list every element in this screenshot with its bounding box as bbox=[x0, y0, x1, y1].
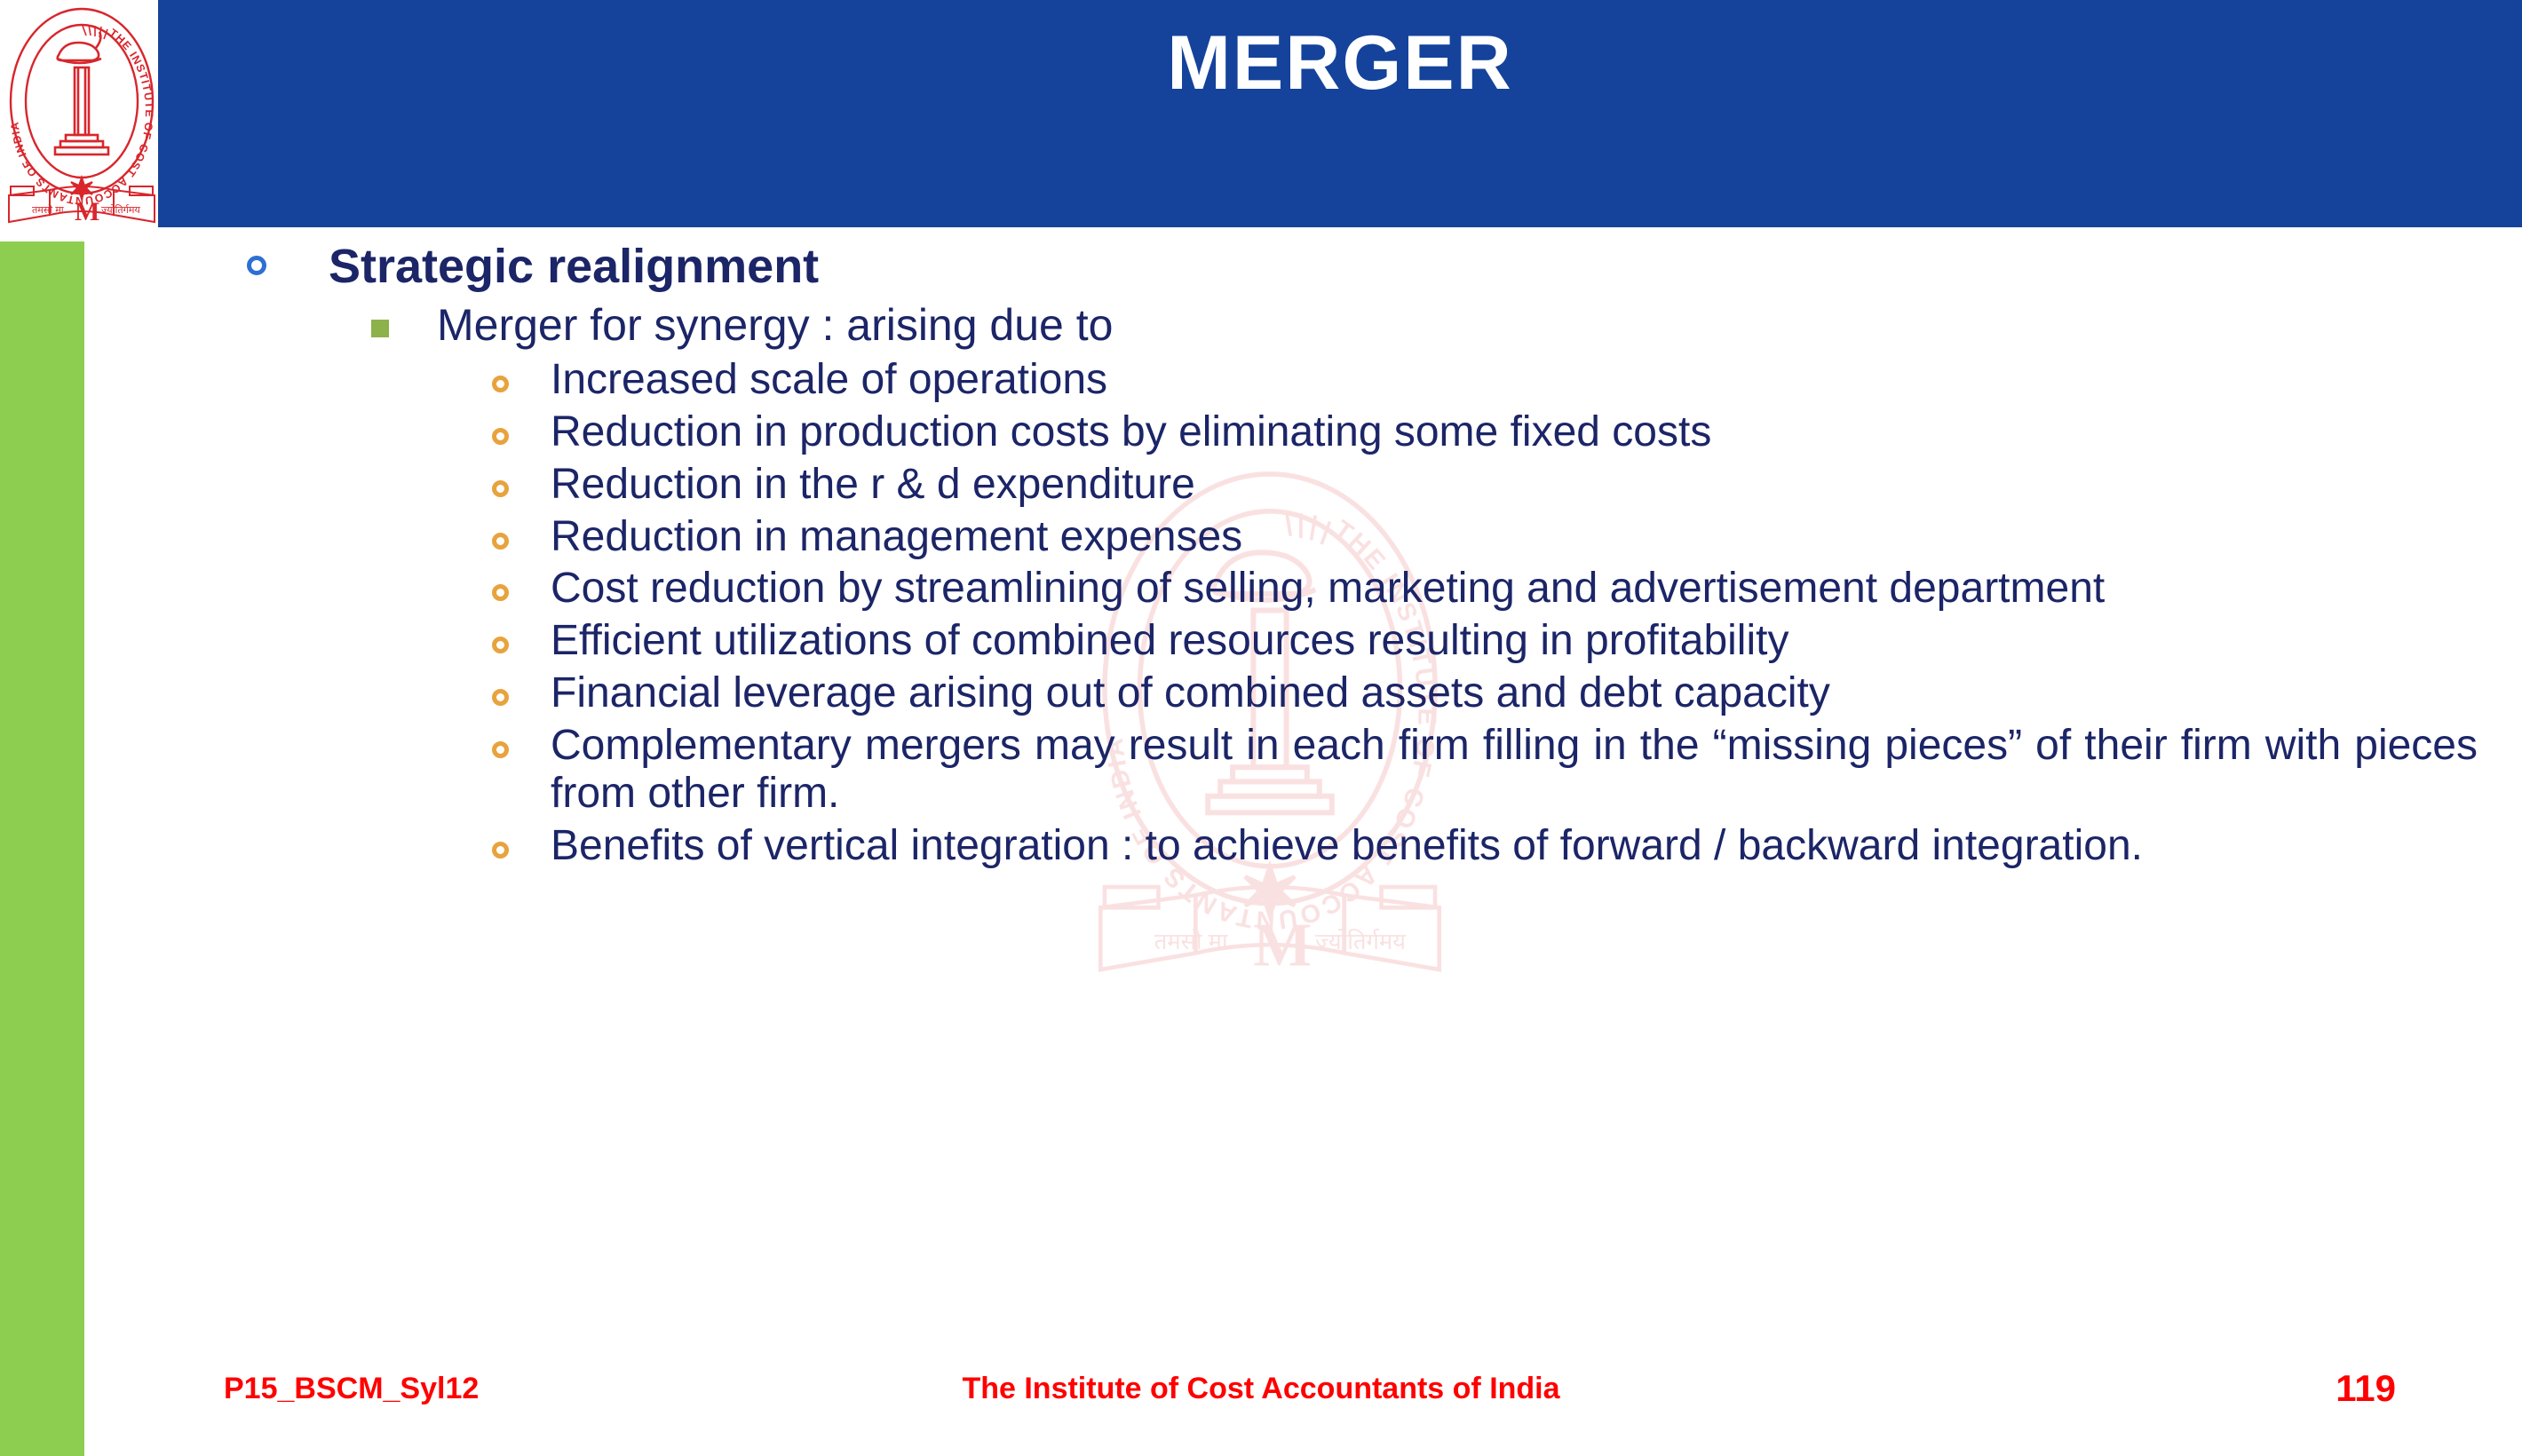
bullet-square-green-icon bbox=[371, 320, 389, 337]
bullet-item-level3: Reduction in management expenses bbox=[133, 513, 2495, 562]
bullet-item-level3: Efficient utilizations of combined resou… bbox=[133, 617, 2495, 666]
bullet-circle-blue-icon bbox=[247, 256, 266, 275]
bullet-text: Efficient utilizations of combined resou… bbox=[551, 617, 2478, 666]
bullet-text: Financial leverage arising out of combin… bbox=[551, 669, 2478, 718]
bullet-item-level3: Reduction in the r & d expenditure bbox=[133, 461, 2495, 510]
bullet-text: Reduction in the r & d expenditure bbox=[551, 461, 2478, 510]
bullet-item-level3: Financial leverage arising out of combin… bbox=[133, 669, 2495, 718]
bullet-circle-orange-icon bbox=[492, 428, 509, 445]
bullet-item-level3: Cost reduction by streamlining of sellin… bbox=[133, 565, 2495, 613]
green-accent-bar bbox=[0, 241, 84, 1456]
bullet-text: Complementary mergers may result in each… bbox=[551, 722, 2478, 819]
bullet-text: Benefits of vertical integration : to ac… bbox=[551, 822, 2478, 871]
bullet-text: Cost reduction by streamlining of sellin… bbox=[551, 565, 2478, 613]
bullet-circle-orange-icon bbox=[492, 480, 509, 497]
bullet-item-level3: Complementary mergers may result in each… bbox=[133, 722, 2495, 819]
icai-logo: THE INSTITUTE OF COST ACCOUNTANTS OF IND… bbox=[5, 4, 158, 233]
bullet-text: Reduction in management expenses bbox=[551, 513, 2478, 562]
svg-text:M: M bbox=[75, 197, 99, 226]
footer-page-number: 119 bbox=[2336, 1367, 2396, 1410]
bullet-item-level2: Merger for synergy : arising due to bbox=[133, 300, 2495, 351]
footer-organization: The Institute of Cost Accountants of Ind… bbox=[0, 1372, 2522, 1406]
svg-text:ज्योतिर्गमय: ज्योतिर्गमय bbox=[101, 204, 140, 216]
bullet-circle-orange-icon bbox=[492, 741, 509, 758]
svg-text:तमसो मा: तमसो मा bbox=[32, 204, 64, 216]
bullet-circle-orange-icon bbox=[492, 584, 509, 601]
bullet-text: Strategic realignment bbox=[329, 240, 2495, 293]
bullet-item-level3: Increased scale of operations bbox=[133, 356, 2495, 405]
bullet-text: Merger for synergy : arising due to bbox=[437, 300, 2495, 351]
bullet-circle-orange-icon bbox=[492, 689, 509, 706]
page-title: MERGER bbox=[158, 25, 2522, 101]
bullet-circle-orange-icon bbox=[492, 533, 509, 550]
slide-body: Strategic realignmentMerger for synergy … bbox=[133, 240, 2495, 1332]
bullet-item-level3: Benefits of vertical integration : to ac… bbox=[133, 822, 2495, 871]
bullet-item-level3: Reduction in production costs by elimina… bbox=[133, 408, 2495, 457]
bullet-circle-orange-icon bbox=[492, 376, 509, 392]
bullet-text: Reduction in production costs by elimina… bbox=[551, 408, 2478, 457]
bullet-circle-orange-icon bbox=[492, 637, 509, 653]
bullet-circle-orange-icon bbox=[492, 842, 509, 859]
bullet-item-level1: Strategic realignment bbox=[133, 240, 2495, 293]
bullet-text: Increased scale of operations bbox=[551, 356, 2478, 405]
